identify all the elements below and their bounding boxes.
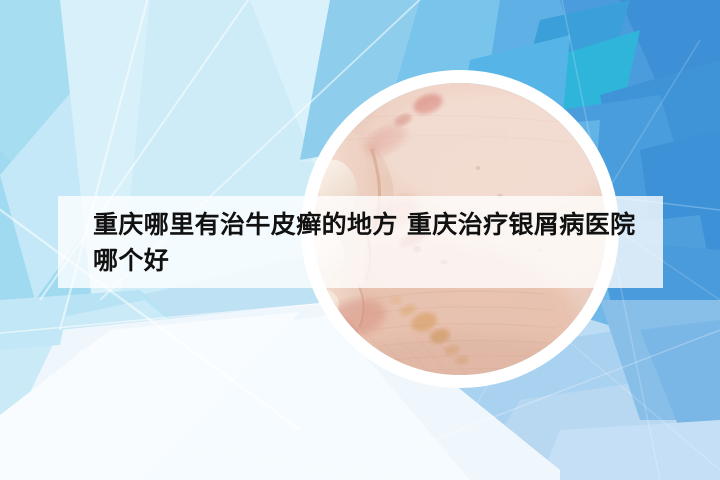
caption-title: 重庆哪里有治牛皮癣的地方 重庆治疗银屑病医院哪个好 bbox=[93, 207, 653, 279]
cover-image: 重庆哪里有治牛皮癣的地方 重庆治疗银屑病医院哪个好 bbox=[0, 0, 720, 480]
